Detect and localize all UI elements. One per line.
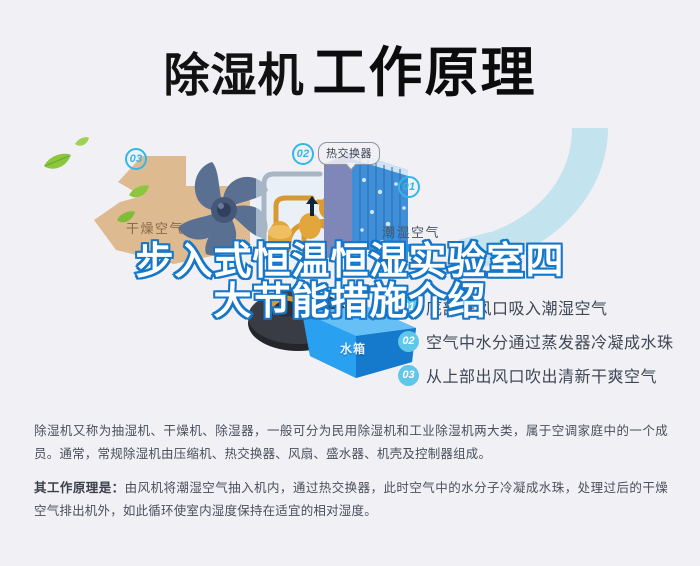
legend-badge-03: 03	[398, 365, 419, 386]
legend-badge-02: 02	[398, 331, 419, 352]
legend-item: 02 空气中水分通过蒸发器冷凝成水珠	[398, 324, 698, 358]
legend-text-01: 底部进风口吸入潮湿空气	[426, 295, 608, 319]
diagram-badge-02: 02	[292, 143, 314, 165]
body-paragraph-2-lead: 其工作原理是：	[34, 481, 125, 495]
evaporator-icon	[318, 150, 414, 270]
leaf-icon	[128, 184, 150, 200]
humid-air-label: 潮湿空气	[382, 222, 440, 241]
legend-badge-01: 01	[398, 297, 419, 318]
legend-text-02: 空气中水分通过蒸发器冷凝成水珠	[426, 329, 674, 353]
heat-exchanger-callout: 02 热交换器	[292, 142, 380, 165]
body-paragraph-2: 其工作原理是：由风机将潮湿空气抽入机内，通过热交换器，此时空气中的水分子冷凝成水…	[34, 477, 668, 523]
dry-air-label: 干燥空气	[126, 218, 184, 237]
heat-exchanger-callout-label: 热交换器	[318, 142, 380, 165]
leaf-icon	[42, 152, 72, 172]
diagram-badge-01: 01	[398, 176, 420, 198]
page-title: 除湿机工作原理	[0, 28, 700, 107]
body-copy: 除湿机又称为抽湿机、干燥机、除湿器，一般可分为民用除湿机和工业除湿机两大类，属于…	[34, 420, 668, 523]
dehumidifier-infographic-page: 除湿机工作原理	[0, 0, 700, 566]
body-paragraph-2-rest: 由风机将潮湿空气抽入机内，通过热交换器，此时空气中的水分子冷凝成水珠，处理过后的…	[34, 481, 668, 518]
page-title-main: 工作原理	[313, 43, 537, 103]
body-paragraph-1: 除湿机又称为抽湿机、干燥机、除湿器，一般可分为民用除湿机和工业除湿机两大类，属于…	[34, 420, 668, 466]
diagram-badge-03: 03	[125, 148, 147, 170]
legend-item: 03 从上部出风口吹出清新干爽空气	[398, 358, 698, 392]
leaf-icon	[74, 136, 90, 148]
water-tank-label: 水箱	[340, 340, 366, 357]
legend-list: 01 底部进风口吸入潮湿空气 02 空气中水分通过蒸发器冷凝成水珠 03 从上部…	[398, 290, 698, 392]
legend-text-03: 从上部出风口吹出清新干爽空气	[426, 363, 657, 387]
legend-item: 01 底部进风口吸入潮湿空气	[398, 290, 698, 324]
page-title-prefix: 除湿机	[164, 49, 305, 101]
